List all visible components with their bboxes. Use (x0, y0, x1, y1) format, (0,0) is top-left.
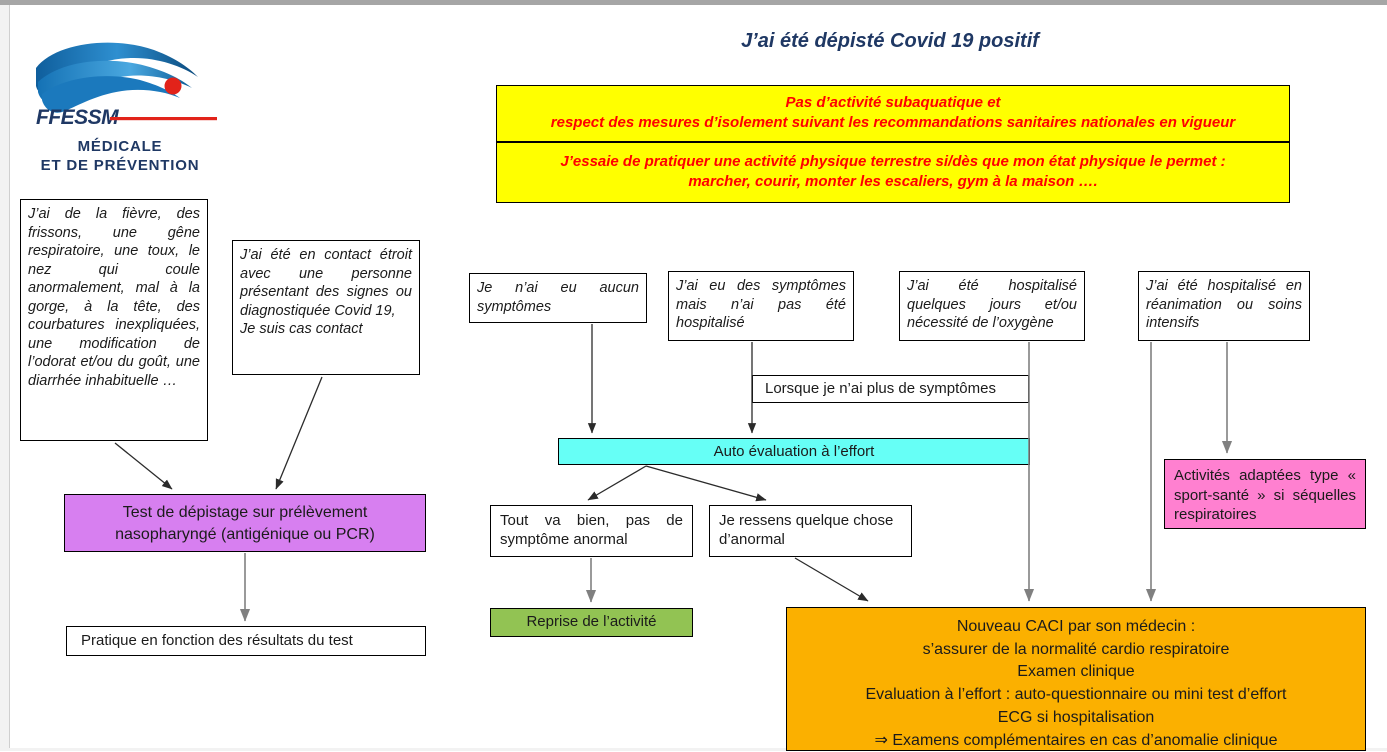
box-hospitalized-some-days: J’ai été hospitalisé quelques jours et/o… (899, 271, 1085, 341)
window-top-border (0, 0, 1387, 5)
box-when-no-more-symptoms: Lorsque je n’ai plus de symptômes (752, 375, 1029, 403)
box-adapted-activities: Activités adaptées type « sport-santé » … (1164, 459, 1366, 529)
page-title: J’ai été dépisté Covid 19 positif (540, 30, 1240, 53)
banner-isolation-line1: Pas d’activité subaquatique et (497, 93, 1289, 113)
box-close-contact-line1: J’ai été en contact étroit avec une pers… (240, 246, 412, 320)
box-feel-abnormal: Je ressens quelque chose d’anormal (709, 505, 912, 557)
logo-line-2: ET DE PRÉVENTION (22, 156, 218, 175)
box-screening-test: Test de dépistage sur prélèvement nasoph… (64, 494, 426, 552)
ffessm-logo: FFESSM MÉDICALE ET DE PRÉVENTION (22, 38, 218, 173)
box-symptoms-not-hospitalized: J’ai eu des symptômes mais n’ai pas été … (668, 271, 854, 341)
flowchart-page: FFESSM MÉDICALE ET DE PRÉVENTION J’ai ét… (0, 0, 1387, 751)
banner-isolation-line2: respect des mesures d’isolement suivant … (497, 113, 1289, 133)
caci-line-6: ⇒ Examens complémentaires en cas d’anoma… (787, 730, 1365, 752)
box-no-symptoms: Je n’ai eu aucun symptômes (469, 273, 647, 323)
box-close-contact-line2: Je suis cas contact (240, 320, 412, 339)
caci-line-1: Nouveau CACI par son médecin : (787, 616, 1365, 639)
logo-line-1: MÉDICALE (22, 137, 218, 156)
connector-selfeval-to-abnormal (646, 466, 766, 500)
caci-line-5: ECG si hospitalisation (787, 707, 1365, 730)
box-self-evaluation: Auto évaluation à l’effort (558, 438, 1030, 465)
caci-line-4: Evaluation à l’effort : auto-questionnai… (787, 684, 1365, 707)
banner-exercise: J’essaie de pratiquer une activité physi… (496, 142, 1290, 203)
box-all-good: Tout va bien, pas de symptôme anormal (490, 505, 693, 557)
banner-exercise-line1: J’essaie de pratiquer une activité physi… (497, 152, 1289, 172)
svg-text:FFESSM: FFESSM (36, 106, 119, 129)
box-resume-activity: Reprise de l’activité (490, 608, 693, 637)
ffessm-wave-icon: FFESSM (22, 38, 218, 133)
caci-line-3: Examen clinique (787, 661, 1365, 684)
connector-symptoms-to-test (115, 443, 172, 489)
window-left-border (0, 5, 10, 751)
box-close-contact: J’ai été en contact étroit avec une pers… (232, 240, 420, 375)
banner-exercise-line2: marcher, courir, monter les escaliers, g… (497, 172, 1289, 192)
box-hospitalized-icu: J’ai été hospitalisé en réanimation ou s… (1138, 271, 1310, 341)
box-new-caci: Nouveau CACI par son médecin : s’assurer… (786, 607, 1366, 751)
banner-isolation: Pas d’activité subaquatique et respect d… (496, 85, 1290, 142)
box-practice-per-results: Pratique en fonction des résultats du te… (66, 626, 426, 656)
connector-contact-to-test (276, 377, 322, 489)
connector-selfeval-to-allgood (588, 466, 646, 500)
caci-line-2: s’assurer de la normalité cardio respira… (787, 639, 1365, 662)
connector-abnormal-to-caci (795, 558, 868, 601)
box-symptoms: J’ai de la fièvre, des frissons, une gên… (20, 199, 208, 441)
